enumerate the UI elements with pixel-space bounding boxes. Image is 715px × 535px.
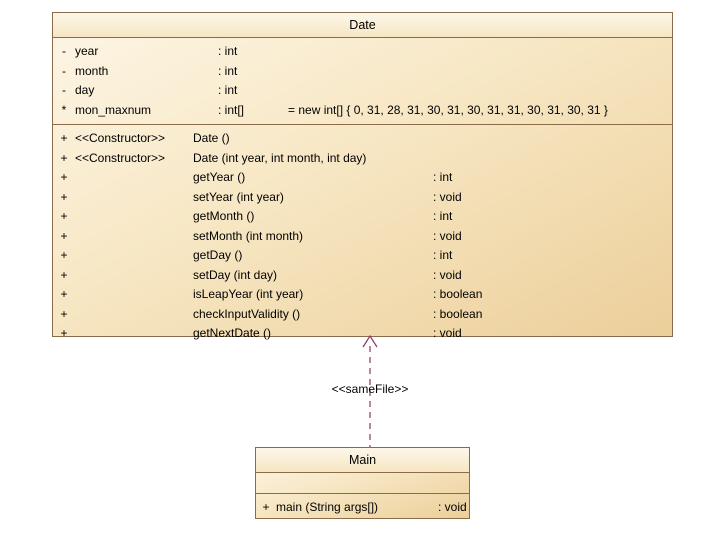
operation-return-type: : int <box>433 246 553 266</box>
operations-compartment-main: + main (String args[]) : void <box>256 494 469 522</box>
attribute-type: : int <box>218 42 288 62</box>
operation-return-type: : void <box>433 266 553 286</box>
attribute-row[interactable]: - day : int <box>53 81 672 101</box>
operation-signature: main (String args[]) <box>276 498 438 518</box>
operation-return-type: : int <box>433 207 553 227</box>
class-title-main: Main <box>256 448 469 473</box>
visibility-marker: - <box>53 42 75 62</box>
attribute-row[interactable]: - year : int <box>53 42 672 62</box>
operation-row[interactable]: + checkInputValidity () : boolean <box>53 305 672 325</box>
attribute-name: mon_maxnum <box>75 101 218 121</box>
attribute-type: : int[] <box>218 101 288 121</box>
attributes-compartment-date: - year : int - month : int - day : int *… <box>53 38 672 125</box>
attribute-type: : int <box>218 62 288 82</box>
visibility-marker: + <box>53 149 75 169</box>
operation-return-type: : boolean <box>433 305 553 325</box>
visibility-marker: + <box>53 168 75 188</box>
operation-signature: getDay () <box>193 246 433 266</box>
operation-signature: isLeapYear (int year) <box>193 285 433 305</box>
operation-row[interactable]: + <<Constructor>> Date () <box>53 129 672 149</box>
operation-row[interactable]: + isLeapYear (int year) : boolean <box>53 285 672 305</box>
attribute-type: : int <box>218 81 288 101</box>
attribute-name: year <box>75 42 218 62</box>
operation-signature: setMonth (int month) <box>193 227 433 247</box>
operation-return-type: : void <box>433 188 553 208</box>
visibility-marker: + <box>53 324 75 344</box>
operation-stereotype: <<Constructor>> <box>75 129 193 149</box>
operation-row[interactable]: + getDay () : int <box>53 246 672 266</box>
relationship-label: <<sameFile>> <box>310 382 430 396</box>
operation-signature: checkInputValidity () <box>193 305 433 325</box>
operation-row[interactable]: + getMonth () : int <box>53 207 672 227</box>
operation-return-type: : boolean <box>433 285 553 305</box>
operation-row[interactable]: + <<Constructor>> Date (int year, int mo… <box>53 149 672 169</box>
class-title-date: Date <box>53 13 672 38</box>
attribute-default: = new int[] { 0, 31, 28, 31, 30, 31, 30,… <box>288 101 608 121</box>
operation-stereotype: <<Constructor>> <box>75 149 193 169</box>
visibility-marker: + <box>53 188 75 208</box>
visibility-marker: + <box>53 305 75 325</box>
operation-signature: getMonth () <box>193 207 433 227</box>
operation-return-type: : void <box>433 227 553 247</box>
visibility-marker: + <box>256 498 276 518</box>
operation-row[interactable]: + setDay (int day) : void <box>53 266 672 286</box>
operation-return-type: : int <box>433 168 553 188</box>
operation-signature: setYear (int year) <box>193 188 433 208</box>
operation-signature: Date (int year, int month, int day) <box>193 149 433 169</box>
visibility-marker: * <box>53 101 75 121</box>
visibility-marker: - <box>53 62 75 82</box>
uml-class-main[interactable]: Main + main (String args[]) : void <box>255 447 470 519</box>
visibility-marker: - <box>53 81 75 101</box>
visibility-marker: + <box>53 266 75 286</box>
attribute-row[interactable]: - month : int <box>53 62 672 82</box>
attribute-name: month <box>75 62 218 82</box>
operation-return-type: : void <box>438 498 467 518</box>
visibility-marker: + <box>53 207 75 227</box>
operation-signature: getYear () <box>193 168 433 188</box>
visibility-marker: + <box>53 246 75 266</box>
operation-return-type: : void <box>433 324 553 344</box>
uml-class-date[interactable]: Date - year : int - month : int - day : … <box>52 12 673 337</box>
attribute-row[interactable]: * mon_maxnum : int[] = new int[] { 0, 31… <box>53 101 672 121</box>
operation-row[interactable]: + setMonth (int month) : void <box>53 227 672 247</box>
attributes-compartment-main <box>256 473 469 494</box>
operation-row[interactable]: + getYear () : int <box>53 168 672 188</box>
operations-compartment-date: + <<Constructor>> Date () + <<Constructo… <box>53 125 672 348</box>
operation-row[interactable]: + setYear (int year) : void <box>53 188 672 208</box>
attribute-name: day <box>75 81 218 101</box>
operation-signature: Date () <box>193 129 433 149</box>
visibility-marker: + <box>53 285 75 305</box>
operation-signature: setDay (int day) <box>193 266 433 286</box>
connector-arrowhead-icon <box>363 336 377 347</box>
visibility-marker: + <box>53 129 75 149</box>
visibility-marker: + <box>53 227 75 247</box>
operation-row[interactable]: + main (String args[]) : void <box>256 498 469 518</box>
